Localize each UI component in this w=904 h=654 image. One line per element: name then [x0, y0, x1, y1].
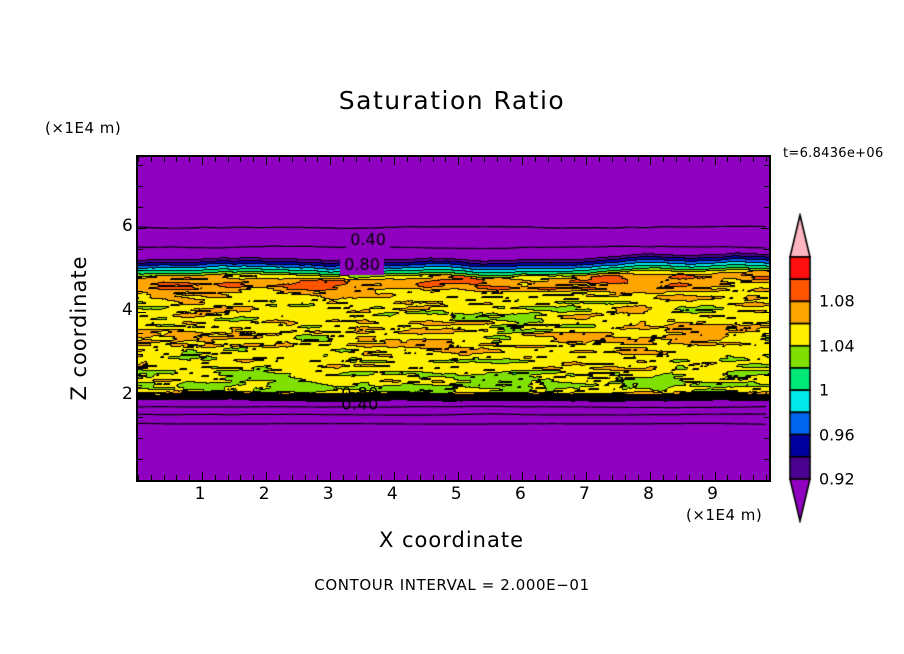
axis-tick	[676, 157, 677, 162]
axis-tick	[689, 157, 690, 162]
axis-tick	[510, 475, 511, 480]
axis-tick	[138, 354, 143, 355]
axis-tick	[292, 157, 293, 162]
axis-tick	[420, 157, 421, 162]
axis-tick	[138, 291, 143, 292]
time-annotation: t=6.8436e+06	[783, 146, 884, 161]
axis-tick	[764, 480, 769, 481]
axis-tick	[240, 475, 241, 480]
axis-tick	[764, 249, 769, 250]
axis-tick	[761, 396, 769, 397]
x-tick-label: 4	[387, 484, 398, 504]
axis-tick	[764, 291, 769, 292]
axis-tick	[228, 157, 229, 162]
axis-tick	[471, 475, 472, 480]
contour-line-label: 0.40	[341, 395, 379, 414]
axis-tick	[394, 157, 395, 165]
axis-tick	[599, 157, 600, 162]
axis-tick	[317, 157, 318, 162]
axis-tick	[561, 157, 562, 162]
axis-tick	[689, 475, 690, 480]
axis-tick	[663, 157, 664, 162]
axis-tick	[138, 165, 143, 166]
axis-tick	[407, 475, 408, 480]
axis-tick	[663, 475, 664, 480]
axis-tick	[305, 157, 306, 162]
axis-tick	[764, 375, 769, 376]
contour-plot-area	[136, 155, 771, 482]
axis-tick	[228, 475, 229, 480]
axis-tick	[764, 354, 769, 355]
x-tick-label: 8	[643, 484, 654, 504]
colorbar-tick-label: 1.04	[819, 336, 855, 355]
axis-tick	[586, 472, 587, 480]
axis-tick	[151, 475, 152, 480]
y-axis-title: Z coordinate	[67, 228, 91, 428]
axis-tick	[202, 472, 203, 480]
axis-tick	[497, 157, 498, 162]
axis-tick	[727, 475, 728, 480]
y-axis-unit-label: (×1E4 m)	[45, 119, 121, 137]
axis-tick	[369, 157, 370, 162]
axis-tick	[625, 157, 626, 162]
axis-tick	[138, 375, 143, 376]
axis-tick	[599, 475, 600, 480]
axis-tick	[764, 438, 769, 439]
axis-tick	[330, 157, 331, 165]
axis-tick	[317, 475, 318, 480]
axis-tick	[522, 157, 523, 165]
colorbar-tick-label: 0.92	[819, 470, 855, 489]
y-tick-label: 2	[122, 384, 133, 404]
axis-tick	[676, 475, 677, 480]
axis-tick	[715, 157, 716, 165]
axis-tick	[740, 157, 741, 162]
axis-tick	[138, 270, 143, 271]
axis-tick	[535, 157, 536, 162]
axis-tick	[292, 475, 293, 480]
axis-tick	[164, 157, 165, 162]
colorbar[interactable]	[783, 213, 817, 523]
axis-tick	[138, 459, 143, 460]
axis-tick	[253, 157, 254, 162]
x-tick-label: 2	[259, 484, 270, 504]
axis-tick	[381, 475, 382, 480]
axis-tick	[407, 157, 408, 162]
axis-tick	[574, 157, 575, 162]
axis-tick	[176, 157, 177, 162]
axis-tick	[202, 157, 203, 165]
axis-tick	[266, 157, 267, 165]
axis-tick	[766, 157, 767, 162]
axis-tick	[215, 475, 216, 480]
x-tick-label: 7	[579, 484, 590, 504]
axis-tick	[764, 417, 769, 418]
axis-tick	[650, 472, 651, 480]
axis-tick	[176, 475, 177, 480]
figure-root: Saturation Ratio (×1E4 m) (×1E4 m) t=6.8…	[0, 0, 904, 654]
axis-tick	[764, 207, 769, 208]
axis-tick	[433, 157, 434, 162]
axis-tick	[138, 417, 143, 418]
colorbar-tick-label: 0.96	[819, 425, 855, 444]
axis-tick	[240, 157, 241, 162]
y-tick-label: 6	[122, 216, 133, 236]
colorbar-tick-label: 1.08	[819, 292, 855, 311]
axis-tick	[458, 472, 459, 480]
axis-tick	[138, 396, 146, 397]
axis-tick	[330, 472, 331, 480]
page-title: Saturation Ratio	[0, 86, 904, 115]
axis-tick	[138, 312, 146, 313]
axis-tick	[522, 472, 523, 480]
x-axis-title: X coordinate	[136, 528, 767, 552]
axis-tick	[215, 157, 216, 162]
axis-tick	[764, 270, 769, 271]
contour-interval-note: CONTOUR INTERVAL = 2.000E−01	[0, 576, 904, 594]
axis-tick	[625, 475, 626, 480]
axis-tick	[189, 157, 190, 162]
axis-tick	[740, 475, 741, 480]
axis-tick	[151, 157, 152, 162]
axis-tick	[753, 475, 754, 480]
axis-tick	[189, 475, 190, 480]
axis-tick	[535, 475, 536, 480]
axis-tick	[164, 475, 165, 480]
axis-tick	[484, 157, 485, 162]
x-axis-unit-label: (×1E4 m)	[686, 506, 762, 524]
axis-tick	[279, 475, 280, 480]
axis-tick	[433, 475, 434, 480]
axis-tick	[381, 157, 382, 162]
axis-tick	[471, 157, 472, 162]
axis-tick	[138, 438, 143, 439]
colorbar-canvas	[783, 213, 817, 523]
axis-tick	[638, 157, 639, 162]
axis-tick	[764, 459, 769, 460]
axis-tick	[561, 475, 562, 480]
axis-tick	[702, 475, 703, 480]
axis-tick	[138, 480, 143, 481]
contour-field-canvas	[138, 157, 769, 480]
axis-tick	[764, 186, 769, 187]
axis-tick	[343, 475, 344, 480]
y-tick-label: 4	[122, 300, 133, 320]
axis-tick	[702, 157, 703, 162]
axis-tick	[510, 157, 511, 162]
axis-tick	[497, 475, 498, 480]
axis-tick	[638, 475, 639, 480]
axis-tick	[445, 157, 446, 162]
axis-tick	[138, 157, 139, 162]
colorbar-tick-label: 1	[819, 381, 829, 400]
axis-tick	[586, 157, 587, 165]
axis-tick	[764, 165, 769, 166]
x-tick-label: 6	[515, 484, 526, 504]
axis-tick	[612, 157, 613, 162]
axis-tick	[458, 157, 459, 165]
axis-tick	[484, 475, 485, 480]
axis-tick	[394, 472, 395, 480]
axis-tick	[138, 207, 143, 208]
x-tick-label: 1	[195, 484, 206, 504]
axis-tick	[574, 475, 575, 480]
axis-tick	[764, 333, 769, 334]
axis-tick	[253, 475, 254, 480]
x-tick-label: 9	[707, 484, 718, 504]
axis-tick	[138, 186, 143, 187]
axis-tick	[266, 472, 267, 480]
axis-tick	[548, 475, 549, 480]
axis-tick	[356, 157, 357, 162]
axis-tick	[356, 475, 357, 480]
axis-tick	[715, 472, 716, 480]
axis-tick	[343, 157, 344, 162]
axis-tick	[369, 475, 370, 480]
axis-tick	[761, 312, 769, 313]
axis-tick	[548, 157, 549, 162]
x-tick-label: 5	[451, 484, 462, 504]
x-tick-label: 3	[323, 484, 334, 504]
axis-tick	[761, 228, 769, 229]
axis-tick	[279, 157, 280, 162]
axis-tick	[138, 228, 146, 229]
axis-tick	[650, 157, 651, 165]
axis-tick	[138, 333, 143, 334]
axis-tick	[612, 475, 613, 480]
axis-tick	[727, 157, 728, 162]
axis-tick	[420, 475, 421, 480]
axis-tick	[305, 475, 306, 480]
axis-tick	[138, 249, 143, 250]
axis-tick	[753, 157, 754, 162]
axis-tick	[445, 475, 446, 480]
